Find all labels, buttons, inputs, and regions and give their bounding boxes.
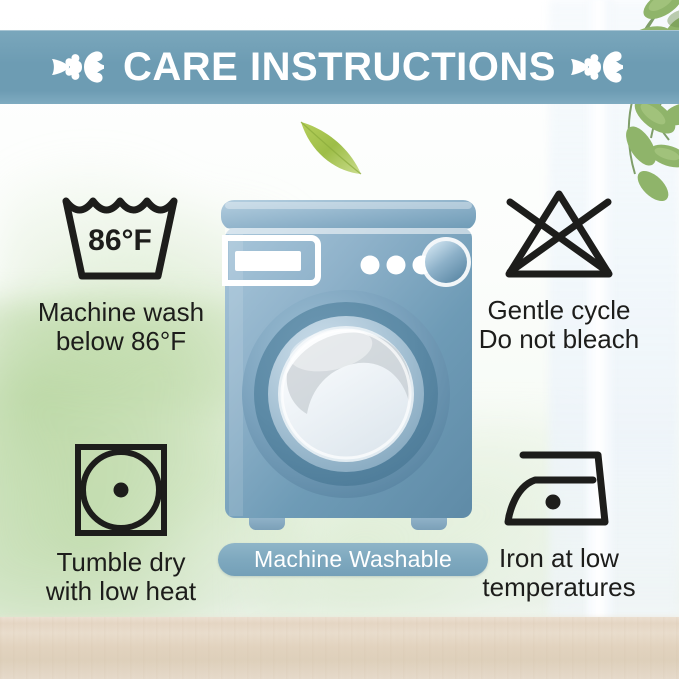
care-instructions-card: CARE INSTRUCTIONS 86°F Machine wash belo… — [0, 0, 679, 679]
leaf-icon — [297, 118, 367, 180]
do-not-bleach-triangle-icon — [495, 186, 623, 286]
iron-low-temperature-icon — [495, 444, 623, 534]
wash-tub-icon: 86°F — [57, 188, 185, 288]
wash-temperature-text: 86°F — [88, 224, 152, 257]
care-item-machine-wash: 86°F Machine wash below 86°F — [6, 188, 236, 356]
washing-machine-icon — [219, 198, 478, 543]
page-title: CARE INSTRUCTIONS — [123, 47, 556, 87]
machine-washable-badge: Machine Washable — [218, 543, 488, 576]
care-item-gentle-cycle-no-bleach: Gentle cycle Do not bleach — [444, 186, 674, 354]
care-label-tumble-dry-low: Tumble dry with low heat — [46, 548, 196, 606]
care-item-iron-low: Iron at low temperatures — [444, 444, 674, 602]
fleur-de-lis-icon — [51, 43, 109, 91]
header-banner: CARE INSTRUCTIONS — [0, 30, 679, 104]
tumble-dry-low-icon — [71, 442, 171, 538]
wooden-table-surface — [0, 617, 679, 679]
care-label-iron-low: Iron at low temperatures — [482, 544, 635, 602]
washer-indicator-dot-1 — [361, 256, 380, 275]
washer-knob — [425, 241, 467, 283]
washer-indicator-dot-2 — [387, 256, 406, 275]
washer-drawer-handle — [235, 251, 301, 271]
care-item-tumble-dry-low: Tumble dry with low heat — [6, 442, 236, 606]
care-label-machine-wash: Machine wash below 86°F — [38, 298, 204, 356]
table-wood-grain — [0, 617, 679, 679]
fleur-de-lis-icon — [570, 43, 628, 91]
machine-washable-badge-label: Machine Washable — [254, 548, 452, 571]
care-label-gentle-cycle-no-bleach: Gentle cycle Do not bleach — [479, 296, 639, 354]
